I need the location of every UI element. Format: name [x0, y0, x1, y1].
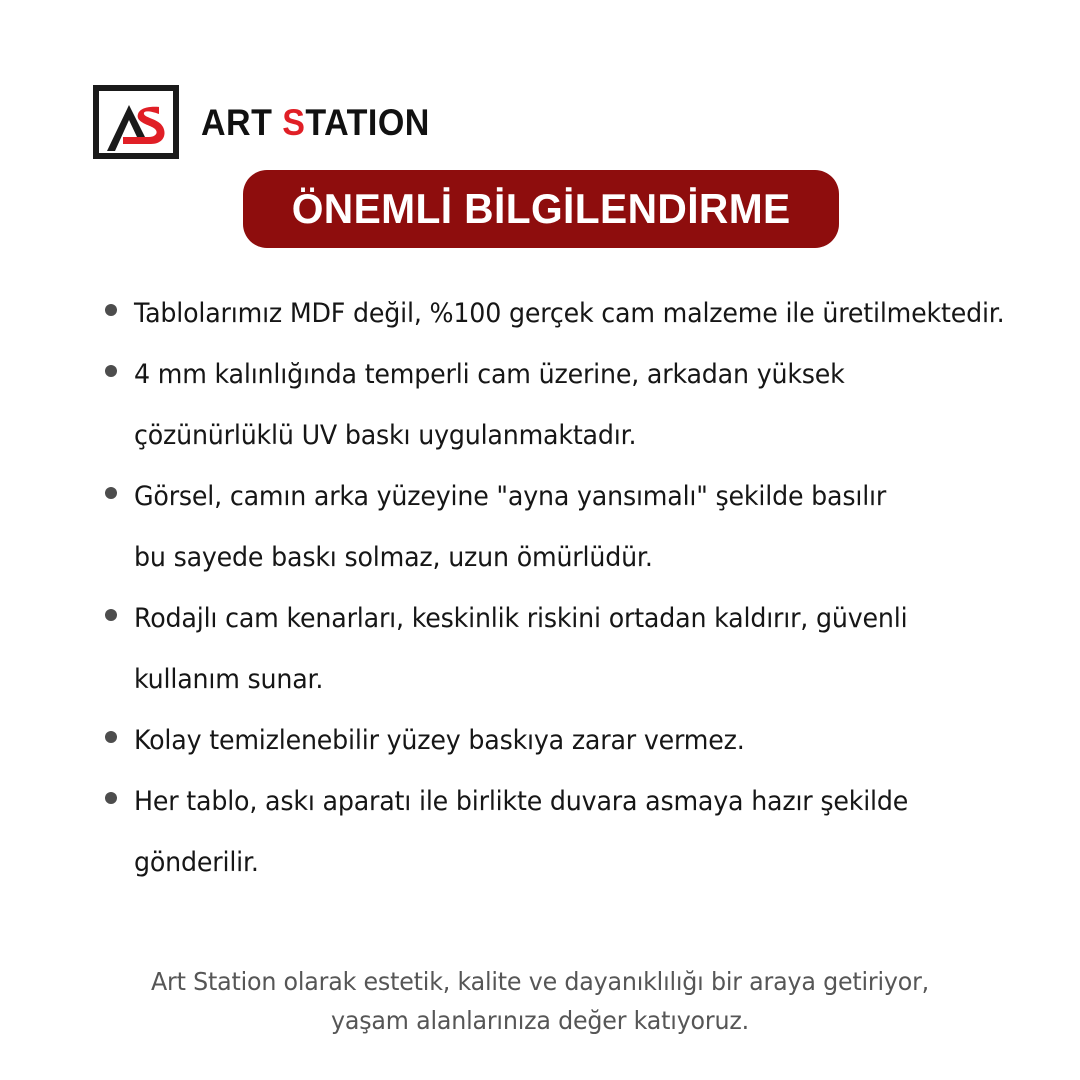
footer-tagline-line: Art Station olarak estetik, kalite ve da… [27, 962, 1053, 1001]
list-item-line: Her tablo, askı aparatı ile birlikte duv… [134, 771, 990, 832]
list-item-line: 4 mm kalınlığında temperli cam üzerine, … [134, 344, 990, 405]
brand-wordmark-part2: TATION [305, 102, 429, 143]
bullet-dot-icon [105, 487, 117, 499]
brand-wordmark-highlight: S [282, 102, 305, 143]
list-item-line: Kolay temizlenebilir yüzey baskıya zarar… [134, 710, 990, 771]
bullet-dot-icon [105, 731, 117, 743]
bullet-dot-icon [105, 792, 117, 804]
list-item: 4 mm kalınlığında temperli cam üzerine, … [100, 344, 1030, 466]
list-item-line: kullanım sunar. [134, 649, 990, 710]
as-monogram-icon [93, 85, 179, 159]
list-item-line: Tablolarımız MDF değil, %100 gerçek cam … [134, 283, 990, 344]
list-item: Kolay temizlenebilir yüzey baskıya zarar… [100, 710, 1030, 771]
list-item: Her tablo, askı aparatı ile birlikte duv… [100, 771, 1030, 893]
footer-tagline-line: yaşam alanlarınıza değer katıyoruz. [27, 1001, 1053, 1040]
banner-title: ÖNEMLİ BİLGİLENDİRME [292, 188, 791, 230]
bullet-dot-icon [105, 609, 117, 621]
info-card-page: ART STATION ÖNEMLİ BİLGİLENDİRME Tablola… [0, 0, 1080, 1080]
brand-logo: ART STATION [93, 84, 450, 160]
list-item: Tablolarımız MDF değil, %100 gerçek cam … [100, 283, 1030, 344]
list-item-line: çözünürlüklü UV baskı uygulanmaktadır. [134, 405, 990, 466]
info-bullet-list: Tablolarımız MDF değil, %100 gerçek cam … [100, 283, 1030, 893]
list-item-line: Rodajlı cam kenarları, keskinlik riskini… [134, 588, 990, 649]
list-item: Görsel, camın arka yüzeyine "ayna yansım… [100, 466, 1030, 588]
list-item-line: Görsel, camın arka yüzeyine "ayna yansım… [134, 466, 990, 527]
list-item-line: gönderilir. [134, 832, 990, 893]
bullet-dot-icon [105, 365, 117, 377]
important-notice-banner: ÖNEMLİ BİLGİLENDİRME [243, 170, 839, 248]
brand-wordmark: ART STATION [201, 104, 430, 141]
list-item-line: bu sayede baskı solmaz, uzun ömürlüdür. [134, 527, 990, 588]
footer-tagline: Art Station olarak estetik, kalite ve da… [0, 962, 1080, 1040]
bullet-dot-icon [105, 304, 117, 316]
brand-wordmark-part1: ART [201, 102, 282, 143]
list-item: Rodajlı cam kenarları, keskinlik riskini… [100, 588, 1030, 710]
